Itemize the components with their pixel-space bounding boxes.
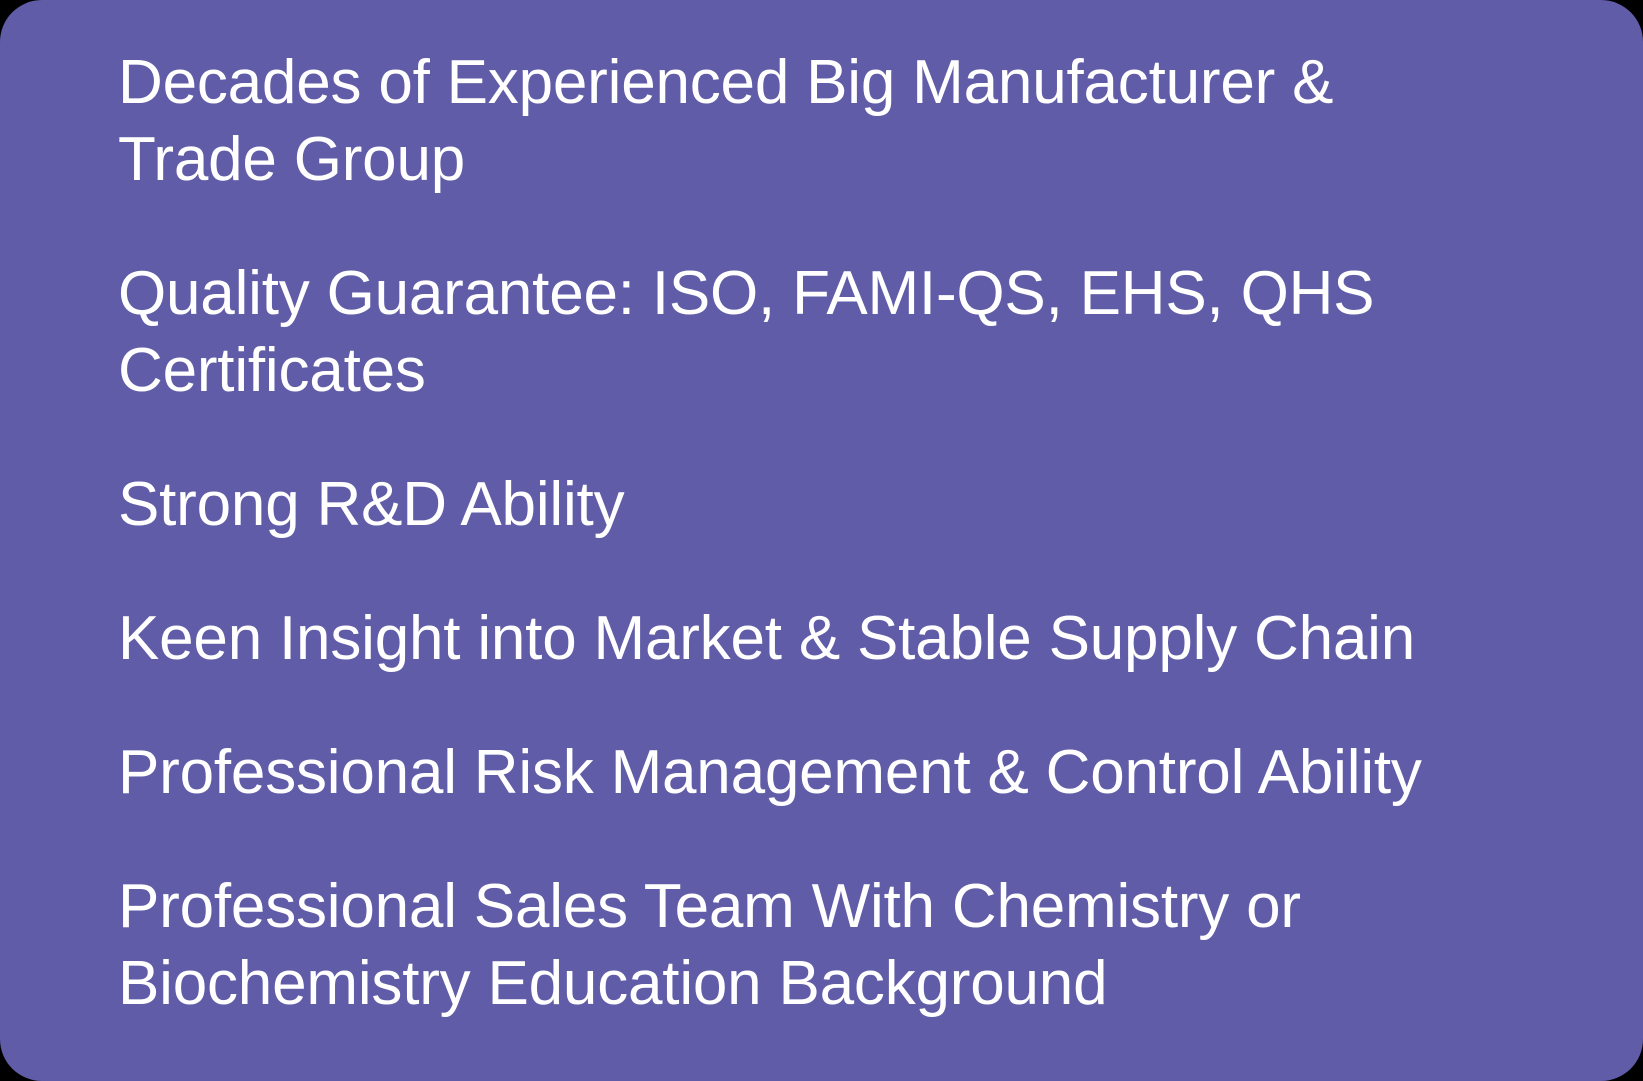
advantage-item-risk-management: Professional Risk Management & Control A… [118, 734, 1558, 811]
advantage-item-rd-ability: Strong R&D Ability [118, 466, 1558, 543]
screenshot-canvas: Decades of Experienced Big Manufacturer … [0, 0, 1643, 1081]
company-advantages-card: Decades of Experienced Big Manufacturer … [0, 0, 1643, 1081]
advantage-item-manufacturer-trade-group: Decades of Experienced Big Manufacturer … [118, 44, 1558, 198]
advantage-item-quality-guarantee: Quality Guarantee: ISO, FAMI-QS, EHS, QH… [118, 255, 1558, 409]
advantage-item-market-insight-supply-chain: Keen Insight into Market & Stable Supply… [118, 600, 1558, 677]
advantage-item-sales-team: Professional Sales Team With Chemistry o… [118, 868, 1558, 1022]
advantages-list: Decades of Experienced Big Manufacturer … [118, 44, 1558, 1022]
